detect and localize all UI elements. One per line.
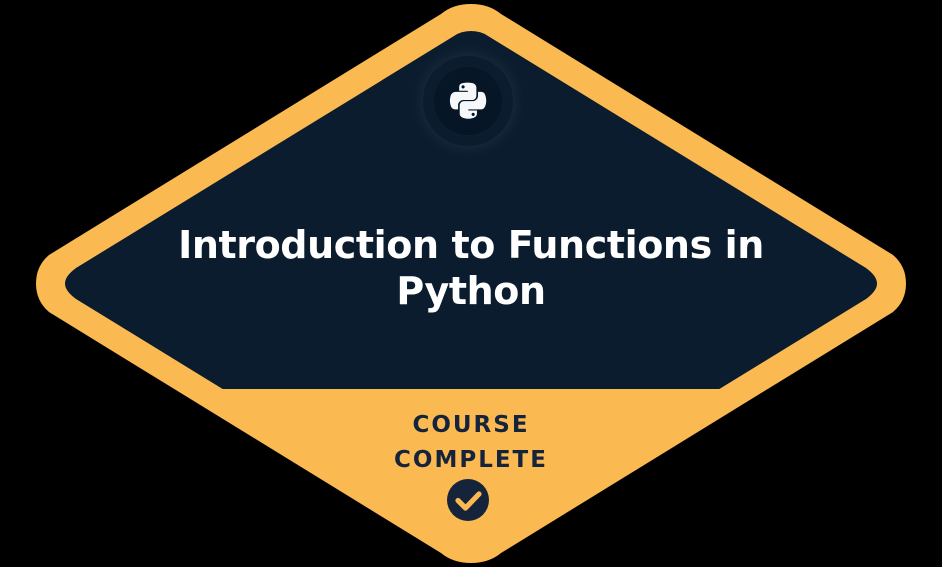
- logo-glow: [408, 41, 528, 161]
- badge-graphic: [0, 0, 942, 567]
- check-circle-icon: [447, 479, 489, 521]
- course-completion-badge: Introduction to Functions in Python COUR…: [0, 0, 942, 567]
